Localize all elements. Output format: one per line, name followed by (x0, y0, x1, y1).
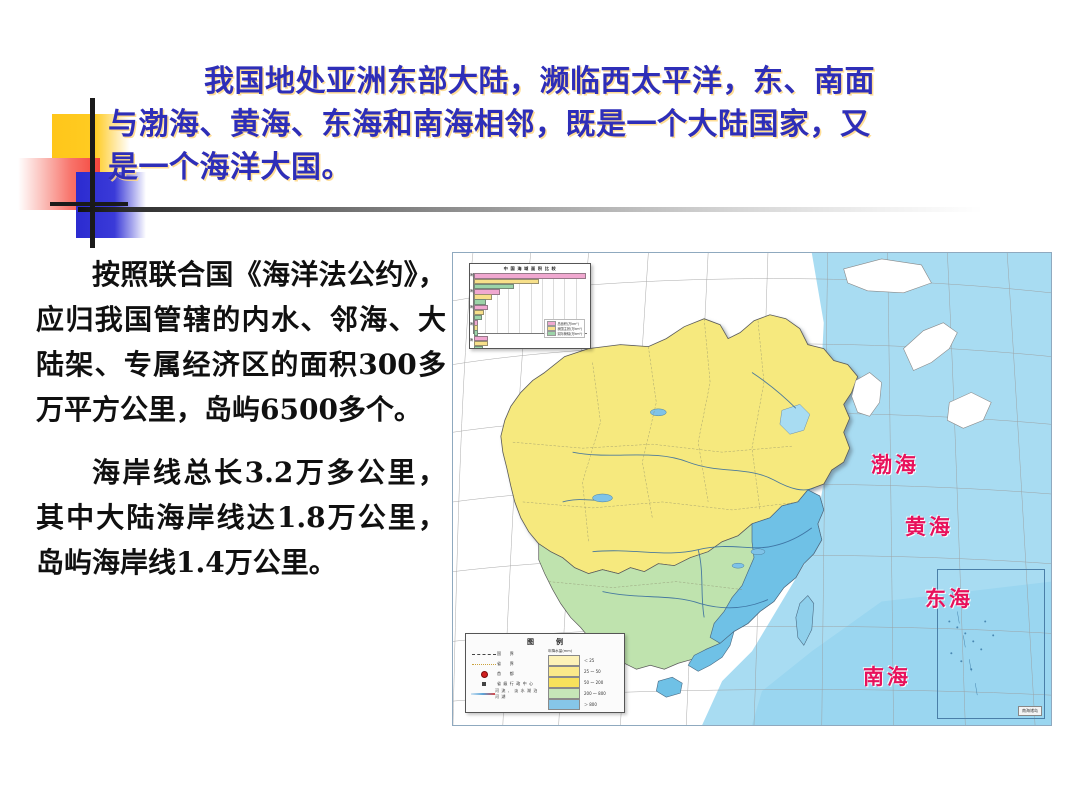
map-legend-item-label: 省级行政中心 (497, 681, 535, 687)
chart-legend: 总面积(万km²)我国主张(万km²)实际管辖(万km²) (544, 319, 585, 338)
deco-red-block (18, 158, 100, 210)
chart-category-label: 渤 海 (469, 322, 473, 327)
sea-label-bohai: 渤海 (871, 449, 919, 479)
capital-symbol-icon (471, 671, 497, 678)
precipitation-scale-item: 25 ～ 50 (548, 666, 619, 677)
chart-bar-row (474, 283, 587, 288)
precipitation-scale-swatch (548, 655, 580, 666)
precipitation-scale-item: ＜ 25 (548, 655, 619, 666)
precipitation-scale-item: ＞ 800 (548, 699, 619, 710)
map-legend-item: 省 界 (471, 659, 544, 669)
chart-category-label: 南 海 (469, 273, 473, 278)
scs-inset-caption: 南海诸岛 (1018, 706, 1042, 716)
precipitation-scale-label: ＜ 25 (584, 658, 594, 664)
body-text-column: 按照联合国《海洋法公约》，应归我国管辖的内水、邻海、大陆架、专属经济区的面积30… (36, 252, 446, 603)
chart-bar-row (474, 309, 587, 314)
chart-bar-row (474, 299, 587, 304)
precipitation-scale-label: 25 ～ 50 (584, 669, 601, 675)
paragraph-2: 海岸线总长3.2万多公里，其中大陆海岸线达1.8万公里，岛屿海岸线1.4万公里。 (36, 450, 446, 585)
sea-area-bar-chart-inset: 中 国 海 域 面 积 比 较 南 海东 海黄 海渤 海内水及领海 总面积(万k… (469, 263, 591, 349)
precipitation-scale-label: 50 ～ 200 (584, 680, 603, 686)
precipitation-scale-label: ＞ 800 (584, 702, 597, 708)
river-glyph (471, 693, 495, 695)
china-precipitation-map[interactable]: 中 国 海 域 面 积 比 较 南 海东 海黄 海渤 海内水及领海 总面积(万k… (452, 252, 1052, 726)
map-legend-symbols: 国 界省 界首 都省级行政中心河流、淡水湖泊河湖 (471, 649, 544, 710)
city-glyph (482, 682, 486, 686)
map-legend-item-label: 国 界 (497, 651, 516, 657)
precipitation-scale-header: 年降水量(mm) (548, 649, 619, 654)
map-legend-item: 首 都 (471, 669, 544, 679)
province-symbol-icon (471, 664, 497, 665)
border-symbol-icon (471, 654, 497, 655)
chart-bar-row (474, 346, 587, 349)
paragraph-1: 按照联合国《海洋法公约》，应归我国管辖的内水、邻海、大陆架、专属经济区的面积30… (36, 252, 446, 432)
map-legend-title: 图例 (471, 637, 619, 647)
chart-category-label: 内水及领海 (469, 338, 473, 343)
chart-bar-row (474, 304, 587, 309)
precipitation-scale-label: 200 ～ 800 (584, 691, 606, 697)
map-legend-item-label: 省 界 (497, 661, 516, 667)
city-symbol-icon (471, 682, 497, 686)
title-underline-rule (78, 207, 983, 212)
sea-label-donghai: 东海 (925, 583, 973, 613)
map-legend-item: 河流、淡水湖泊河湖 (471, 689, 544, 699)
chart-bar (474, 346, 483, 349)
chart-legend-entry: 实际管辖(万km²) (547, 331, 582, 336)
river-symbol-icon (471, 693, 495, 695)
capital-glyph (481, 671, 488, 678)
precipitation-scale-swatch (548, 666, 580, 677)
precipitation-scale-swatch (548, 677, 580, 688)
title-line-1: 我国地处亚洲东部大陆，濒临西太平洋，东、南面 (108, 60, 1038, 103)
precipitation-scale-swatch (548, 688, 580, 699)
sea-label-huanghai: 黄海 (905, 511, 953, 541)
province-glyph (472, 664, 496, 665)
chart-bar-row (474, 278, 587, 283)
chart-bar-row (474, 340, 587, 345)
chart-category-label: 黄 海 (469, 305, 473, 310)
deco-horizontal-line (50, 202, 128, 206)
border-glyph (472, 654, 496, 655)
chart-legend-label: 实际管辖(万km²) (557, 331, 582, 336)
precipitation-scale-item: 200 ～ 800 (548, 688, 619, 699)
page-title: 我国地处亚洲东部大陆，濒临西太平洋，东、南面 与渤海、黄海、东海和南海相邻，既是… (108, 60, 1038, 189)
title-line-3: 是一个海洋大国。 (108, 146, 1038, 189)
precipitation-scale-item: 50 ～ 200 (548, 677, 619, 688)
map-legend-item: 国 界 (471, 649, 544, 659)
chart-bar-row (474, 273, 587, 278)
map-legend-scale: 年降水量(mm) ＜ 2525 ～ 5050 ～ 200200 ～ 800＞ 8… (548, 649, 619, 710)
precipitation-scale-swatch (548, 699, 580, 710)
map-legend-box: 图例 国 界省 界首 都省级行政中心河流、淡水湖泊河湖 年降水量(mm) ＜ 2… (465, 633, 625, 713)
map-legend-item-label: 河流、淡水湖泊河湖 (495, 688, 544, 700)
deco-vertical-line (90, 98, 95, 248)
chart-title: 中 国 海 域 面 积 比 较 (473, 266, 587, 272)
sea-label-nanhai: 南海 (863, 661, 911, 691)
chart-bar-row (474, 294, 587, 299)
chart-legend-swatch (547, 331, 556, 336)
title-line-2: 与渤海、黄海、东海和南海相邻，既是一个大陆国家，又 (108, 103, 1038, 146)
map-legend-item-label: 首 都 (497, 671, 516, 677)
chart-bar-row (474, 289, 587, 294)
chart-category-label: 东 海 (469, 289, 473, 294)
